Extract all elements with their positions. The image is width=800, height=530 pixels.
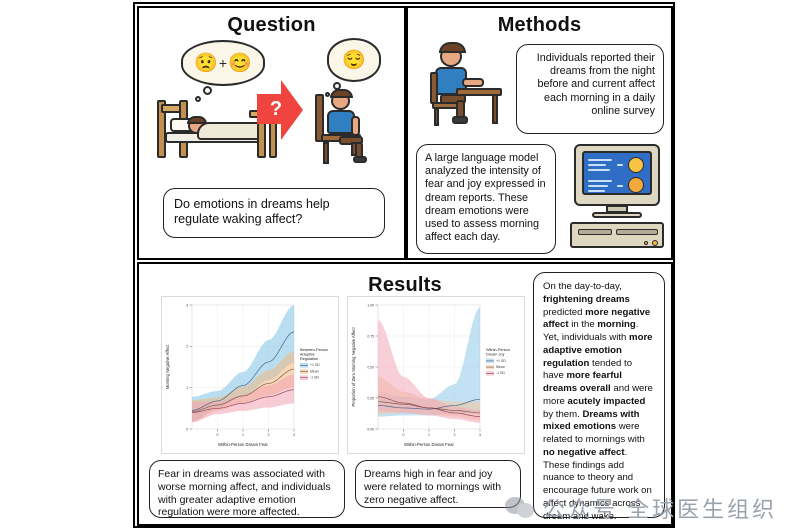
- frowning-face-emoji: [628, 177, 644, 193]
- tower-power-led: [644, 241, 648, 245]
- screen-text-line: [588, 164, 606, 166]
- svg-text:0: 0: [217, 433, 219, 437]
- svg-text:Mean: Mean: [310, 369, 319, 373]
- svg-text:Regulation: Regulation: [300, 357, 318, 361]
- screen-text-line: [588, 180, 612, 182]
- desk-person-arm: [462, 78, 484, 87]
- methods-survey-bubble: Individuals reported their dreams from t…: [516, 44, 664, 134]
- chart-fear-negative-affect: 01230123Within-Person Dream FearMorning …: [161, 296, 339, 454]
- chart-fear-negative-affect-canvas: 01230123Within-Person Dream FearMorning …: [162, 297, 340, 455]
- desk-leg-right: [492, 94, 498, 124]
- svg-text:1: 1: [428, 433, 430, 437]
- monitor-base: [592, 212, 642, 218]
- svg-text:Adaptive: Adaptive: [300, 352, 315, 356]
- panel-question: Question 😟 + 😊: [137, 6, 406, 260]
- screen-text-line: [588, 169, 610, 171]
- thought-bubble-dot-large: [203, 86, 212, 95]
- svg-text:0.00: 0.00: [367, 427, 374, 431]
- tower-drive-slot: [616, 229, 658, 235]
- desk-chair-leg: [434, 108, 439, 126]
- summary-run-15: no negative affect: [543, 447, 625, 458]
- svg-text:Within-Person Dream Fear: Within-Person Dream Fear: [218, 442, 268, 447]
- svg-text:Within-Person: Within-Person: [486, 348, 510, 352]
- retro-computer-illustration: [570, 144, 666, 252]
- bed-blanket: [197, 122, 263, 140]
- summary-run-4: in the: [569, 319, 598, 330]
- summary-run-0: On the day-to-day,: [543, 281, 622, 292]
- computer-tower: [570, 222, 664, 248]
- screen-text-line: [588, 190, 605, 192]
- panel-methods: Methods Individuals: [406, 6, 673, 260]
- svg-text:Between-Person: Between-Person: [300, 348, 328, 352]
- svg-text:0: 0: [186, 427, 188, 431]
- screen-arrow-line: [617, 164, 623, 166]
- desk-chair: [430, 72, 460, 126]
- svg-text:+1 SD: +1 SD: [496, 359, 506, 363]
- svg-text:+1 SD: +1 SD: [310, 363, 320, 367]
- tower-power-button: [652, 240, 658, 246]
- question-caption: Do emotions in dreams help regulate waki…: [163, 188, 385, 238]
- svg-text:3: 3: [186, 303, 188, 307]
- svg-text:1.00: 1.00: [367, 303, 374, 307]
- svg-text:3: 3: [479, 433, 481, 437]
- plus-sign-icon: +: [219, 55, 227, 71]
- svg-text:3: 3: [293, 433, 295, 437]
- results-summary-box: On the day-to-day, frightening dreams pr…: [533, 272, 665, 518]
- summary-run-5: morning: [597, 319, 635, 330]
- poster-frame: Question 😟 + 😊: [133, 2, 675, 528]
- question-illustration: 😟 + 😊: [139, 38, 404, 168]
- svg-text:Morning Negative Affect: Morning Negative Affect: [165, 344, 170, 389]
- chair-leg-left: [323, 142, 329, 164]
- chair-leg-right: [351, 142, 357, 156]
- transition-arrow: ?: [257, 80, 303, 140]
- methods-llm-bubble: A large language model analyzed the inte…: [416, 144, 556, 254]
- svg-text:0.25: 0.25: [367, 396, 374, 400]
- arrow-question-mark: ?: [263, 94, 289, 124]
- svg-text:-1 SD: -1 SD: [310, 376, 319, 380]
- awake-person-shoe: [353, 156, 367, 163]
- results-caption-middle: Dreams high in fear and joy were related…: [355, 460, 521, 508]
- chart-joy-zero-affect: 01230.000.250.500.751.00Within-Person Dr…: [347, 296, 525, 454]
- desk-chair-back: [430, 72, 438, 104]
- svg-text:2: 2: [268, 433, 270, 437]
- panel-results: Results 01230123Within-Person Dream Fear…: [137, 262, 673, 526]
- svg-text:0: 0: [403, 433, 405, 437]
- svg-text:-1 SD: -1 SD: [496, 371, 505, 375]
- fearful-face-emoji: 😟: [194, 54, 218, 73]
- desk-person-hair: [439, 42, 466, 53]
- dream-thought-bubble: 😟 + 😊: [181, 40, 265, 86]
- panel-question-title: Question: [139, 14, 404, 37]
- smiling-face-emoji: [628, 157, 644, 173]
- summary-run-11: acutely impacted: [568, 396, 646, 407]
- waking-thought-bubble: 😌: [327, 38, 381, 82]
- screen-text-line: [588, 159, 612, 161]
- summary-run-2: predicted: [543, 307, 585, 318]
- summary-run-12: by them.: [543, 409, 582, 420]
- graphical-abstract-figure: Question 😟 + 😊: [0, 0, 800, 530]
- svg-text:Dream Joy: Dream Joy: [486, 352, 504, 356]
- svg-text:2: 2: [186, 345, 188, 349]
- panel-methods-title: Methods: [408, 14, 671, 37]
- screen-text-line: [588, 185, 608, 187]
- desk-person-head: [440, 46, 462, 67]
- svg-text:Within-Person Dream Fear: Within-Person Dream Fear: [404, 442, 454, 447]
- awake-person-head: [331, 92, 350, 110]
- svg-text:1: 1: [186, 386, 188, 390]
- smiling-face-emoji: 😊: [228, 54, 252, 73]
- crt-screen: [582, 151, 652, 195]
- summary-run-1: frightening dreams: [543, 294, 630, 305]
- awake-person-arm: [351, 116, 360, 136]
- person-writing-at-desk-illustration: [422, 42, 508, 138]
- svg-text:0.75: 0.75: [367, 334, 374, 338]
- svg-text:Mean: Mean: [496, 365, 505, 369]
- svg-text:0.50: 0.50: [367, 365, 374, 369]
- tower-drive-slot: [578, 229, 612, 235]
- svg-text:Proportion of Zero Morning Neg: Proportion of Zero Morning Negative Affe…: [351, 327, 356, 407]
- seated-person-illustration: [311, 86, 383, 166]
- screen-arrow-line: [617, 185, 623, 187]
- awake-person-hair: [330, 89, 353, 98]
- results-caption-left: Fear in dreams was associated with worse…: [149, 460, 345, 518]
- svg-text:1: 1: [242, 433, 244, 437]
- chart-joy-zero-affect-canvas: 01230.000.250.500.751.00Within-Person Dr…: [348, 297, 526, 455]
- relieved-face-emoji: 😌: [342, 51, 366, 70]
- svg-text:2: 2: [454, 433, 456, 437]
